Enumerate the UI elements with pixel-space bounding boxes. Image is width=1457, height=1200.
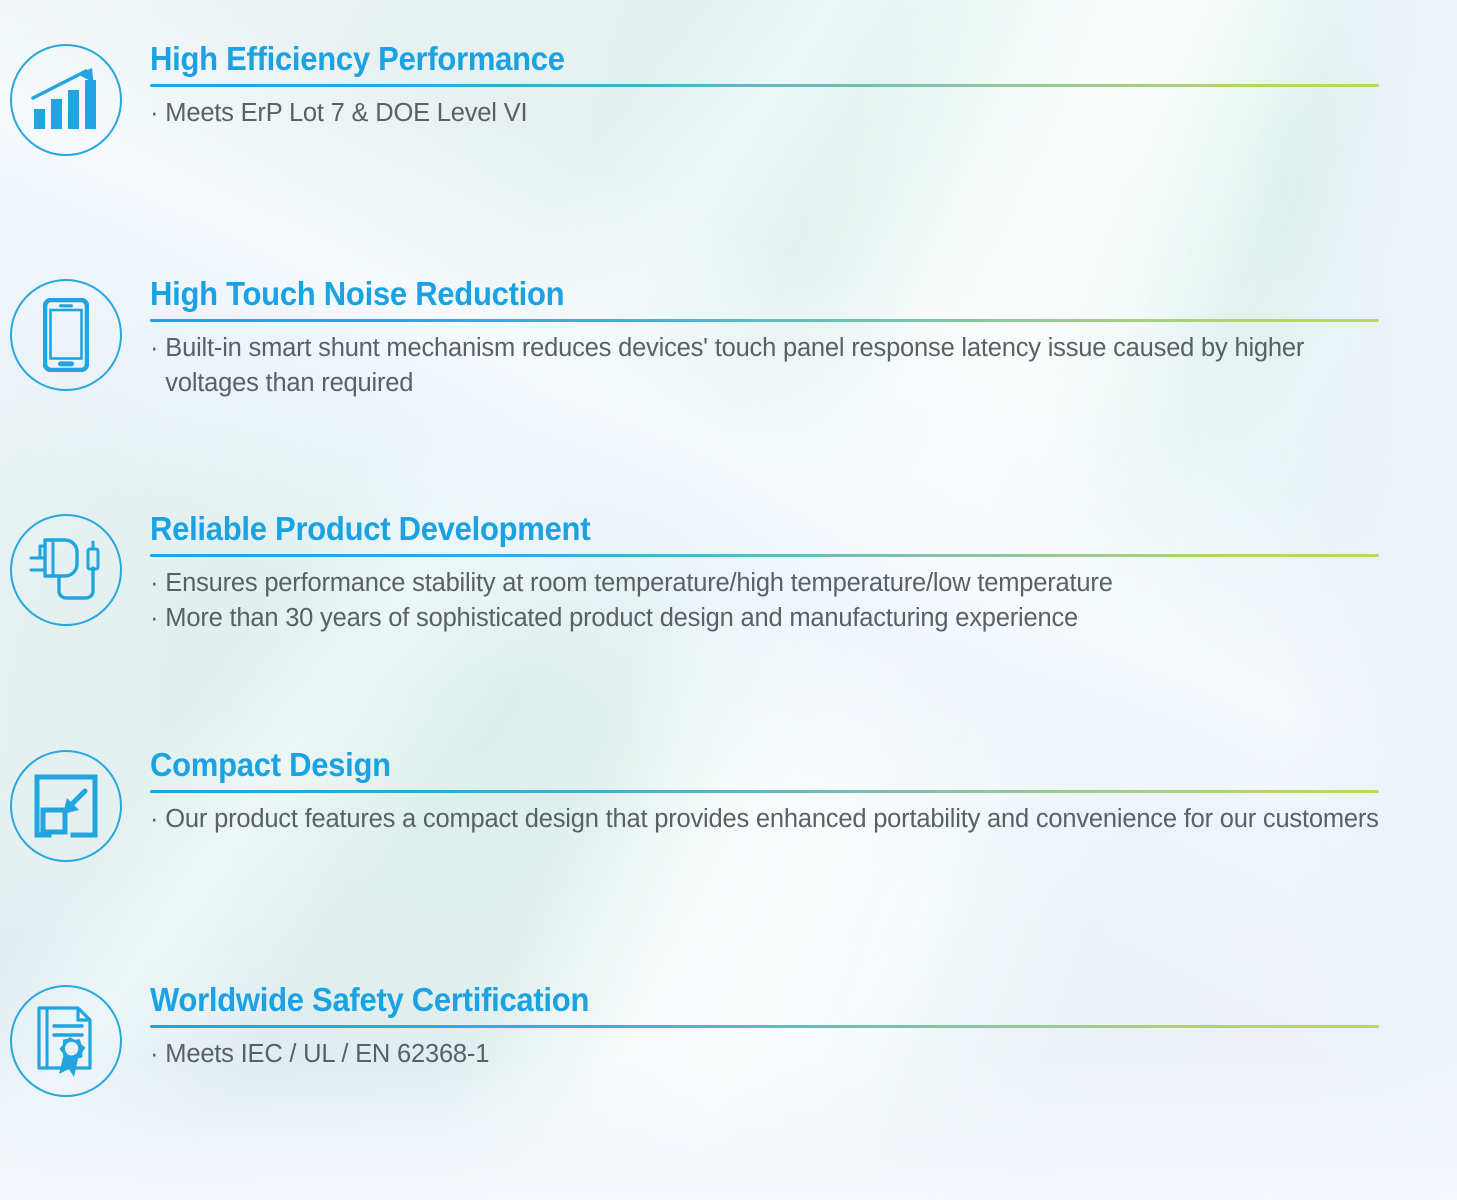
compact-resize-icon [10, 750, 122, 862]
feature-divider-rule [150, 554, 1379, 557]
feature-bullet: · Built-in smart shunt mechanism reduces… [150, 331, 1379, 401]
bullet-marker-icon: · [150, 601, 158, 636]
feature-item-high-touch-noise-reduction: High Touch Noise Reduction · Built-in sm… [0, 277, 1457, 400]
feature-divider-rule [150, 790, 1379, 793]
feature-bullet-list: · Our product features a compact design … [150, 802, 1379, 837]
bullet-marker-icon: · [150, 802, 158, 837]
feature-bullet: · Meets ErP Lot 7 & DOE Level VI [150, 96, 1379, 131]
smartphone-icon [10, 279, 122, 391]
feature-bullet-text: Meets ErP Lot 7 & DOE Level VI [165, 96, 527, 131]
feature-item-high-efficiency-performance: High Efficiency Performance · Meets ErP … [0, 42, 1457, 156]
feature-content: Reliable Product Development · Ensures p… [132, 512, 1457, 635]
feature-divider-rule [150, 84, 1379, 87]
feature-bullet-text: Ensures performance stability at room te… [165, 566, 1112, 601]
bullet-marker-icon: · [150, 566, 158, 601]
feature-icon-wrapper [0, 42, 132, 156]
feature-title: Compact Design [150, 748, 1305, 783]
feature-bullet-list: · Meets ErP Lot 7 & DOE Level VI [150, 96, 1379, 131]
feature-icon-wrapper [0, 512, 132, 626]
feature-highlights-page: High Efficiency Performance · Meets ErP … [0, 0, 1457, 1200]
feature-icon-wrapper [0, 983, 132, 1097]
feature-item-reliable-product-development: Reliable Product Development · Ensures p… [0, 512, 1457, 635]
feature-bullet-list: · Built-in smart shunt mechanism reduces… [150, 331, 1379, 401]
feature-bullet-list: · Meets IEC / UL / EN 62368-1 [150, 1037, 1379, 1072]
bullet-marker-icon: · [150, 96, 158, 131]
feature-bullet-text: More than 30 years of sophisticated prod… [165, 601, 1078, 636]
feature-content: High Efficiency Performance · Meets ErP … [132, 42, 1457, 131]
feature-title: Worldwide Safety Certification [150, 983, 1305, 1018]
feature-content: Compact Design · Our product features a … [132, 748, 1457, 837]
bullet-marker-icon: · [150, 1037, 158, 1072]
feature-icon-wrapper [0, 277, 132, 391]
feature-content: High Touch Noise Reduction · Built-in sm… [132, 277, 1457, 400]
certificate-award-icon [10, 985, 122, 1097]
feature-item-compact-design: Compact Design · Our product features a … [0, 748, 1457, 862]
feature-bullet-text: Built-in smart shunt mechanism reduces d… [165, 331, 1379, 401]
feature-bullet: · Ensures performance stability at room … [150, 566, 1379, 601]
feature-title: Reliable Product Development [150, 512, 1305, 547]
bullet-marker-icon: · [150, 331, 158, 366]
feature-content: Worldwide Safety Certification · Meets I… [132, 983, 1457, 1072]
feature-bullet: · Our product features a compact design … [150, 802, 1379, 837]
feature-bullet-list: · Ensures performance stability at room … [150, 566, 1379, 636]
power-adapter-icon [10, 514, 122, 626]
feature-title: High Touch Noise Reduction [150, 277, 1305, 312]
feature-item-worldwide-safety-certification: Worldwide Safety Certification · Meets I… [0, 983, 1457, 1097]
feature-bullet: · Meets IEC / UL / EN 62368-1 [150, 1037, 1379, 1072]
bar-chart-growth-icon [10, 44, 122, 156]
feature-divider-rule [150, 319, 1379, 322]
feature-divider-rule [150, 1025, 1379, 1028]
feature-title: High Efficiency Performance [150, 42, 1305, 77]
feature-icon-wrapper [0, 748, 132, 862]
feature-bullet-text: Meets IEC / UL / EN 62368-1 [165, 1037, 489, 1072]
feature-bullet: · More than 30 years of sophisticated pr… [150, 601, 1379, 636]
feature-bullet-text: Our product features a compact design th… [165, 802, 1378, 837]
